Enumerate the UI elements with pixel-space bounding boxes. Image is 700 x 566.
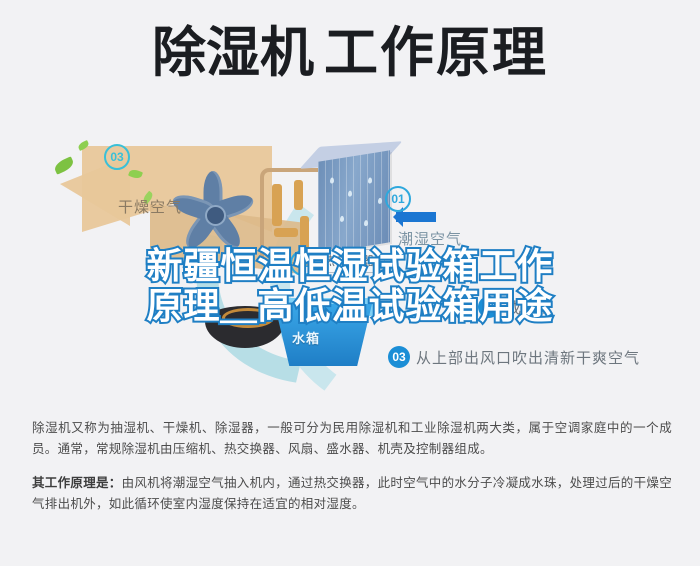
paragraph-2-text: 由风机将潮湿空气抽入机内，通过热交换器，此时空气中的水分子冷凝成水珠，处理过后的…	[32, 476, 672, 511]
page-title: 除湿机工作原理	[0, 26, 700, 80]
badge-02-caption: 02	[478, 296, 500, 318]
caption-condensation-text: 成水珠	[506, 297, 554, 318]
badge-01-humid-air: 01	[385, 186, 411, 212]
heat-exchanger-icon	[318, 150, 390, 253]
water-tank-label: 水箱	[292, 328, 320, 347]
dehumidifier-diagram: 水箱 03 干燥空气 02 热交换器 01 潮湿空气 02 成水珠 03 从上部…	[0, 108, 700, 393]
paragraph-1: 除湿机又称为抽湿机、干燥机、除湿器，一般可分为民用除湿机和工业除湿机两大类，属于…	[32, 418, 672, 460]
air-intake-arrow-icon	[396, 212, 436, 222]
article-body: 除湿机又称为抽湿机、干燥机、除湿器，一般可分为民用除湿机和工业除湿机两大类，属于…	[32, 418, 672, 528]
caption-outlet-text: 从上部出风口吹出清新干爽空气	[416, 347, 640, 368]
page-title-part2: 工作原理	[324, 23, 548, 83]
badge-03-caption: 03	[388, 346, 410, 368]
caption-condensation: 02 成水珠	[478, 296, 554, 318]
compressor-coil-icon	[222, 308, 274, 328]
caption-outlet: 03 从上部出风口吹出清新干爽空气	[388, 346, 640, 368]
paragraph-2-label: 其工作原理是：	[32, 476, 122, 490]
humid-air-label: 潮湿空气	[398, 228, 462, 249]
page-root: 除湿机工作原理	[0, 0, 700, 566]
callout-tail-icon	[339, 268, 355, 281]
leaf-icon	[53, 156, 76, 174]
fan-icon	[170, 170, 256, 256]
dry-air-label: 干燥空气	[118, 196, 182, 217]
page-title-part1: 除湿机	[152, 23, 314, 83]
badge-03-dry-air: 03	[104, 144, 130, 170]
paragraph-2: 其工作原理是：由风机将潮湿空气抽入机内，通过热交换器，此时空气中的水分子冷凝成水…	[32, 473, 672, 515]
